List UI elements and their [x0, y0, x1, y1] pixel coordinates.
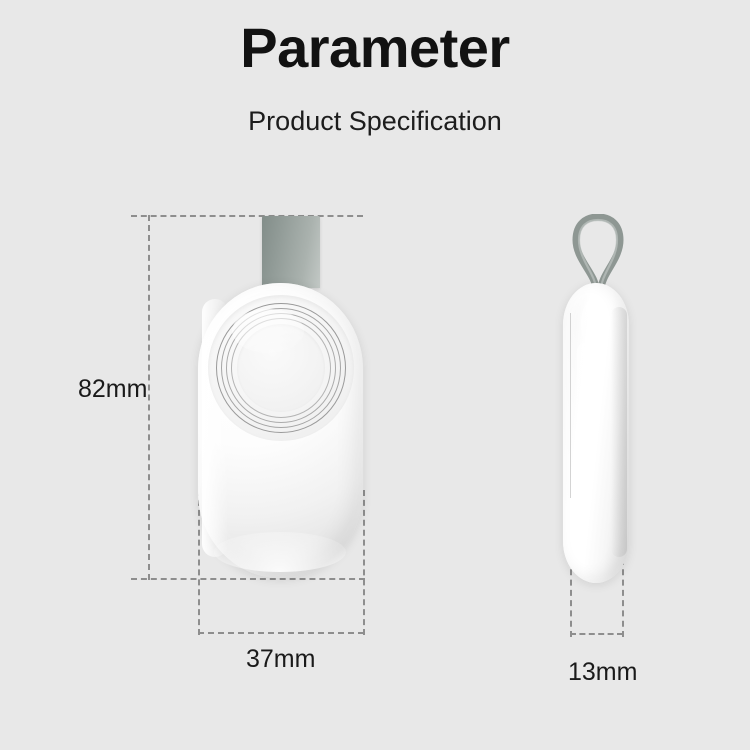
- body-shadow-right: [611, 307, 627, 557]
- product-body-side: [563, 283, 629, 583]
- product-strap-front: [262, 216, 320, 288]
- product-specification-page: Parameter Product Specification 82mm 37m…: [0, 0, 750, 750]
- dimension-label-height: 82mm: [78, 375, 147, 404]
- lanyard-loop-icon: [570, 214, 626, 292]
- page-subtitle: Product Specification: [0, 105, 750, 137]
- product-side-view: [563, 283, 629, 583]
- charging-pad: [208, 295, 354, 441]
- product-front-view: [198, 283, 363, 578]
- charging-pad-center: [237, 324, 325, 412]
- body-seam-line: [570, 313, 571, 498]
- body-gloss-strip: [577, 343, 593, 523]
- guide-line-front-bottom: [131, 578, 365, 580]
- page-title: Parameter: [0, 16, 750, 80]
- guide-line-thickness-measure: [570, 633, 623, 635]
- guide-line-width-measure: [198, 632, 364, 634]
- guide-line-front-top: [131, 215, 363, 217]
- dimension-label-thickness: 13mm: [568, 658, 637, 687]
- body-highlight-bottom: [214, 532, 346, 572]
- guide-line-width-right: [363, 490, 365, 635]
- body-gloss-top: [581, 297, 611, 351]
- guide-line-front-left-vertical: [148, 215, 150, 580]
- product-body-front: [198, 283, 363, 578]
- dimension-label-width: 37mm: [246, 645, 315, 674]
